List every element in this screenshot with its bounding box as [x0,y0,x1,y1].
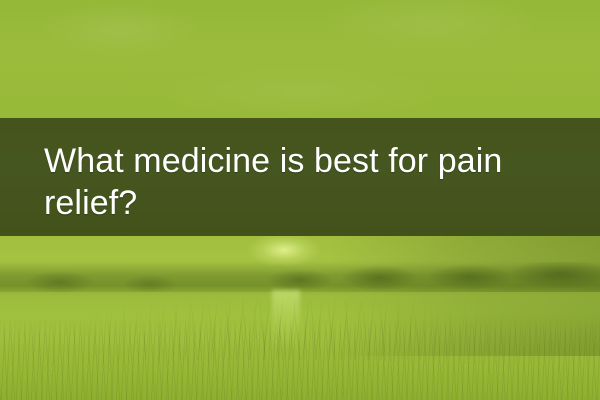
thumbnail-card: What medicine is best for pain relief? [0,0,600,400]
caption-title: What medicine is best for pain relief? [44,140,582,224]
foreground-grass [0,318,600,400]
sky-region [0,0,600,122]
caption-band: What medicine is best for pain relief? [0,118,600,236]
